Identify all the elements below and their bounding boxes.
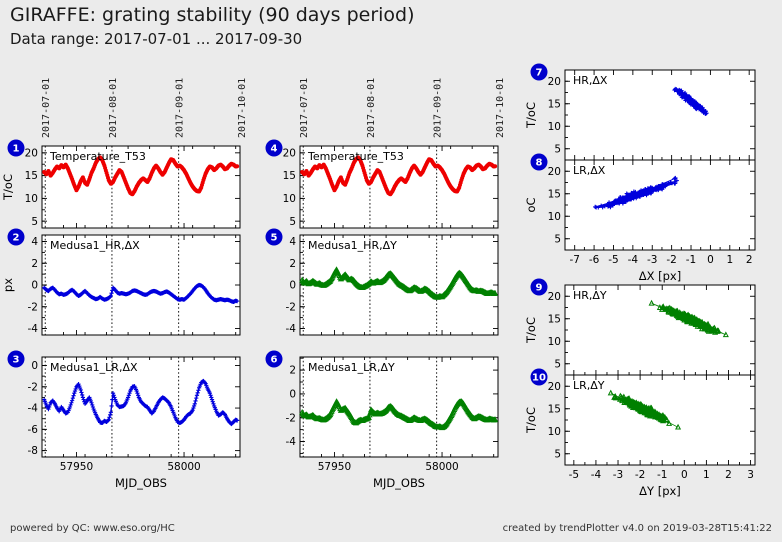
panel-badge-label-6: 6 (271, 355, 278, 366)
xtick-label-6-1: 58000 (425, 461, 458, 473)
date-tick-label-0-2: 2017-09-01 (175, 78, 186, 138)
panel-label-3: Medusa1_LR,ΔX (50, 361, 138, 374)
panel-label-10: LR,ΔY (573, 379, 605, 392)
ytick-label-2-2: 2 (31, 258, 38, 270)
xtick-label-10-4: -1 (657, 469, 667, 481)
date-tick-label-0-3: 2017-10-01 (237, 78, 248, 138)
plot-grid: 5101520Temperature_T53T/oC1-4-2024Medusa… (0, 0, 782, 542)
date-tick-label-0-1: 2017-08-01 (108, 78, 119, 138)
ytick-label-10-15: 15 (548, 403, 561, 415)
panel-badge-label-8: 8 (536, 158, 543, 169)
panel-label-7: HR,ΔX (573, 74, 608, 87)
ytick-label-1-10: 10 (25, 193, 38, 205)
ytick-label-5-4: 4 (289, 236, 296, 248)
ytick-label-6--2: -2 (286, 412, 296, 424)
xtick-label-10-3: -2 (635, 469, 645, 481)
ytick-label-5-2: 2 (289, 258, 296, 270)
panel-label-6: Medusa1_LR,ΔY (308, 361, 395, 374)
xtick-label-6-0: 57950 (318, 461, 351, 473)
ytick-label-8-15: 15 (548, 188, 561, 200)
ytick-label-3--8: -8 (28, 445, 38, 457)
xtick-label-3-1: 58000 (167, 461, 200, 473)
figure-svg: 5101520Temperature_T53T/oC1-4-2024Medusa… (0, 0, 782, 542)
panel-label-4: Temperature_T53 (307, 150, 404, 163)
xtick-label-8-2: -5 (608, 254, 618, 266)
date-tick-label-0-0: 2017-07-01 (41, 78, 52, 138)
ytick-label-7-10: 10 (548, 121, 561, 133)
ytick-label-9-10: 10 (548, 336, 561, 348)
footer-credit-right: created by trendPlotter v4.0 on 2019-03-… (503, 523, 772, 534)
panel-label-9: HR,ΔY (573, 289, 607, 302)
ylabel-2: px (1, 278, 15, 292)
panel-badge-label-1: 1 (13, 144, 20, 155)
ytick-label-7-15: 15 (548, 98, 561, 110)
ytick-label-9-5: 5 (554, 358, 561, 370)
xtick-label-10-1: -4 (591, 469, 602, 481)
xtick-label-10-7: 2 (725, 469, 732, 481)
panel-badge-label-2: 2 (13, 233, 20, 244)
panel-label-2: Medusa1_HR,ΔX (50, 239, 140, 252)
ytick-label-2-0: 0 (31, 280, 38, 292)
date-tick-label-1-2: 2017-09-01 (433, 78, 444, 138)
ytick-label-1-20: 20 (25, 147, 38, 159)
panel-badge-label-4: 4 (271, 144, 278, 155)
ytick-label-2--4: -4 (28, 323, 39, 335)
ytick-label-3--2: -2 (28, 381, 38, 393)
panel-badge-label-7: 7 (536, 68, 543, 79)
ytick-label-10-5: 5 (554, 448, 561, 460)
ytick-label-2--2: -2 (28, 301, 38, 313)
xtick-label-8-8: 1 (726, 254, 733, 266)
panel-label-5: Medusa1_HR,ΔY (308, 239, 397, 252)
ytick-label-3--4: -4 (28, 403, 39, 415)
ytick-label-5-0: 0 (289, 280, 296, 292)
date-tick-label-1-1: 2017-08-01 (366, 78, 377, 138)
xtick-label-10-8: 3 (747, 469, 754, 481)
xtick-label-10-0: -5 (569, 469, 579, 481)
ytick-label-5--4: -4 (286, 323, 297, 335)
ytick-label-6-2: 2 (289, 365, 296, 377)
panel-label-8: LR,ΔX (573, 164, 606, 177)
ylabel-7: T/oC (524, 102, 538, 129)
ytick-label-2-4: 4 (31, 236, 38, 248)
ytick-label-9-15: 15 (548, 313, 561, 325)
ytick-label-8-5: 5 (554, 233, 561, 245)
ytick-label-1-5: 5 (31, 216, 38, 228)
panel-badge-label-9: 9 (536, 283, 543, 294)
xtick-label-10-6: 1 (703, 469, 710, 481)
xlabel-8: ΔX [px] (639, 269, 681, 283)
ytick-label-7-5: 5 (554, 143, 561, 155)
ylabel-10: T/oC (524, 407, 538, 434)
panel-label-1: Temperature_T53 (49, 150, 146, 163)
ylabel-1: T/oC (1, 174, 15, 201)
xtick-label-8-0: -7 (569, 254, 579, 266)
xtick-label-8-4: -3 (647, 254, 657, 266)
xtick-label-8-9: 2 (746, 254, 753, 266)
panel-badge-label-5: 5 (271, 233, 278, 244)
ytick-label-1-15: 15 (25, 170, 38, 182)
ytick-label-4-20: 20 (283, 147, 296, 159)
ytick-label-4-15: 15 (283, 170, 296, 182)
xtick-label-8-3: -4 (628, 254, 639, 266)
ytick-label-7-20: 20 (548, 76, 561, 88)
date-tick-label-1-0: 2017-07-01 (299, 78, 310, 138)
xtick-label-10-5: 0 (681, 469, 688, 481)
ytick-label-8-20: 20 (548, 166, 561, 178)
xlabel-3: MJD_OBS (115, 476, 167, 490)
xtick-label-8-1: -6 (589, 254, 600, 266)
xtick-label-8-5: -2 (666, 254, 676, 266)
xtick-label-3-0: 57950 (60, 461, 93, 473)
ytick-label-8-10: 10 (548, 211, 561, 223)
ytick-label-4-5: 5 (289, 216, 296, 228)
panel-badge-label-3: 3 (13, 355, 20, 366)
xlabel-10: ΔY [px] (639, 484, 681, 498)
ytick-label-6-0: 0 (289, 389, 296, 401)
xtick-label-10-2: -3 (613, 469, 623, 481)
ylabel-8: oC (524, 197, 538, 212)
footer-credit-left: powered by QC: www.eso.org/HC (10, 523, 175, 534)
ytick-label-6--4: -4 (286, 436, 297, 448)
ytick-label-9-20: 20 (548, 291, 561, 303)
xlabel-6: MJD_OBS (373, 476, 425, 490)
ytick-label-3-0: 0 (31, 360, 38, 372)
panel-badge-label-10: 10 (532, 373, 546, 384)
xtick-label-8-6: -1 (686, 254, 696, 266)
ytick-label-10-20: 20 (548, 381, 561, 393)
ytick-label-3--6: -6 (28, 424, 39, 436)
ytick-label-10-10: 10 (548, 426, 561, 438)
date-tick-label-1-3: 2017-10-01 (495, 78, 506, 138)
ylabel-9: T/oC (524, 317, 538, 344)
xtick-label-8-7: 0 (707, 254, 714, 266)
ytick-label-5--2: -2 (286, 301, 296, 313)
ytick-label-4-10: 10 (283, 193, 296, 205)
